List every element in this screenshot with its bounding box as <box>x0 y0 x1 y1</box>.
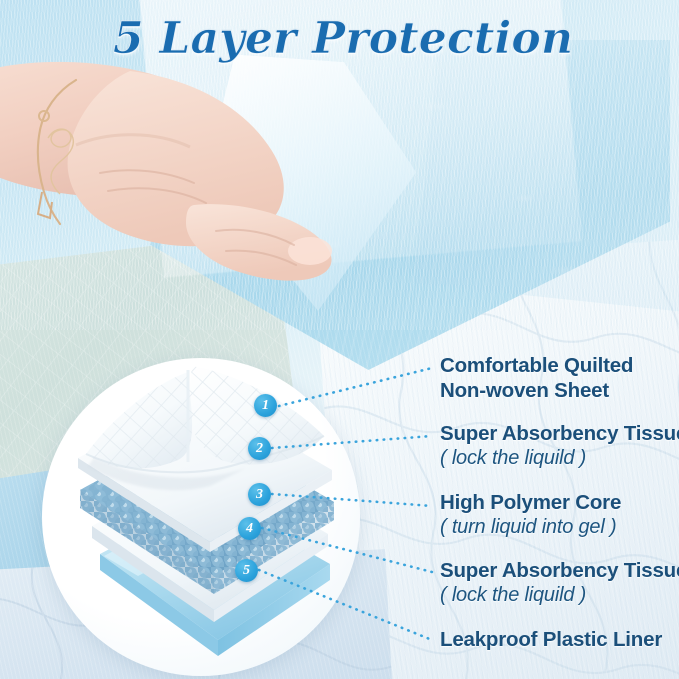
label-2-line1: Super Absorbency Tissue <box>440 421 679 446</box>
callout-5: 5 <box>235 559 258 582</box>
label-3-sub: ( turn liquid into gel ) <box>440 515 621 540</box>
label-layer-2: Super Absorbency Tissue ( lock the liqui… <box>440 421 679 471</box>
label-3-line1: High Polymer Core <box>440 490 621 515</box>
bracelet <box>18 76 138 226</box>
product-infographic: 5 Layer Protection <box>0 0 679 679</box>
label-layer-5: Leakproof Plastic Liner <box>440 627 662 652</box>
callout-2: 2 <box>248 437 271 460</box>
label-layer-3: High Polymer Core ( turn liquid into gel… <box>440 490 621 540</box>
label-layer-4: Super Absorbency Tissue ( lock the liqui… <box>440 558 679 608</box>
label-4-line1: Super Absorbency Tissue <box>440 558 679 583</box>
label-layer-1: Comfortable Quilted Non-woven Sheet <box>440 353 633 403</box>
callout-4: 4 <box>238 517 261 540</box>
page-title: 5 Layer Protection <box>113 13 583 64</box>
label-2-sub: ( lock the liquild ) <box>440 446 679 471</box>
label-1-line1: Comfortable Quilted <box>440 353 633 378</box>
callout-3: 3 <box>248 483 271 506</box>
callout-1: 1 <box>254 394 277 417</box>
label-1-line2: Non-woven Sheet <box>440 378 633 403</box>
exploded-layers-illustration <box>42 358 360 676</box>
label-5-line1: Leakproof Plastic Liner <box>440 627 662 652</box>
layer-inset-circle <box>42 358 360 676</box>
label-4-sub: ( lock the liquild ) <box>440 583 679 608</box>
